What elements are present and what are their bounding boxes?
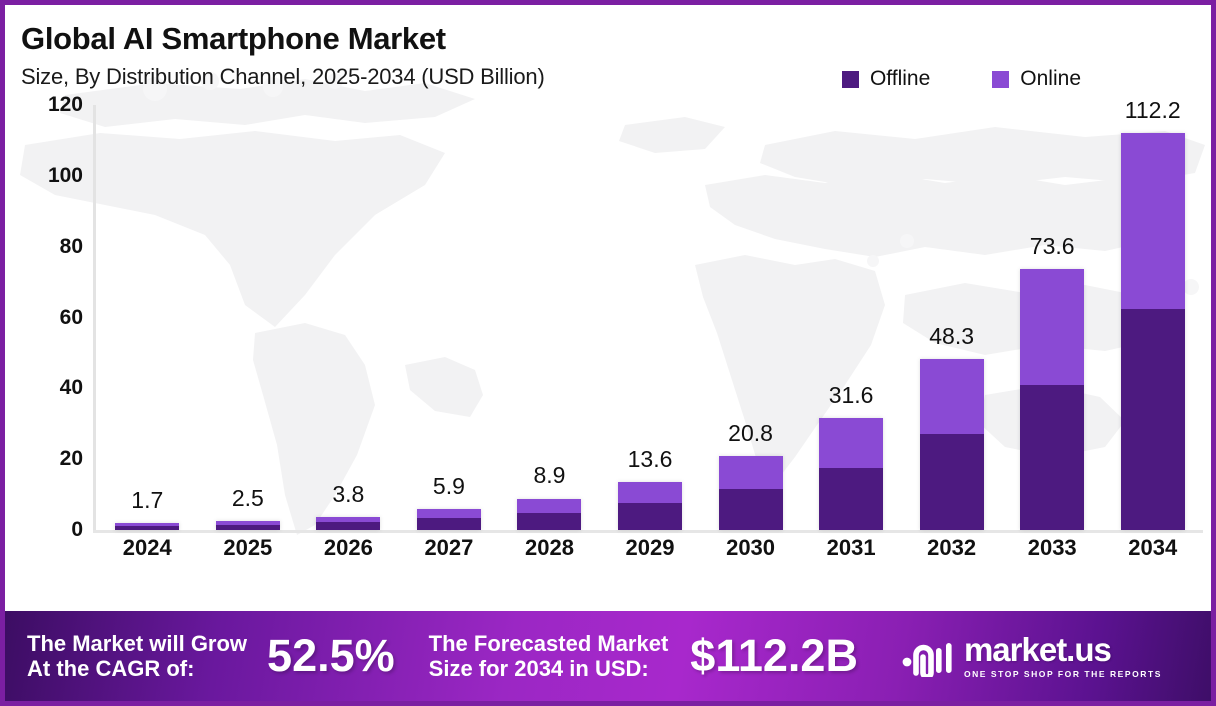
bar-group[interactable]: 5.9: [399, 105, 500, 530]
bar-stack[interactable]: [719, 456, 783, 530]
y-axis-tick: 0: [71, 518, 83, 542]
bar-value-label: 5.9: [433, 473, 465, 500]
x-axis-label: 2026: [298, 535, 399, 575]
bar-stack[interactable]: [316, 517, 380, 530]
bar-segment-offline[interactable]: [417, 518, 481, 530]
bar-segment-online[interactable]: [1020, 269, 1084, 384]
bar-segment-offline[interactable]: [1020, 385, 1084, 530]
legend-item-online[interactable]: Online: [992, 67, 1081, 91]
bar-segment-online[interactable]: [417, 509, 481, 518]
bar-segment-online[interactable]: [1121, 133, 1185, 309]
bar-group[interactable]: 1.7: [97, 105, 198, 530]
bar-stack[interactable]: [517, 499, 581, 531]
bar-segment-online[interactable]: [517, 499, 581, 513]
bar-value-label: 3.8: [332, 481, 364, 508]
bar-stack[interactable]: [920, 359, 984, 530]
cagr-caption-line2: At the CAGR of:: [27, 656, 247, 681]
bar-stack[interactable]: [115, 523, 179, 530]
y-axis-tick: 20: [60, 447, 83, 471]
logo-tagline: ONE STOP SHOP FOR THE REPORTS: [964, 669, 1162, 679]
bar-group[interactable]: 112.2: [1102, 105, 1203, 530]
bar-segment-offline[interactable]: [1121, 309, 1185, 530]
bar-value-label: 1.7: [131, 487, 163, 514]
forecast-value: $112.2B: [690, 630, 858, 682]
bar-value-label: 112.2: [1125, 97, 1181, 124]
cagr-caption: The Market will Grow At the CAGR of:: [27, 631, 247, 681]
bar-value-label: 31.6: [829, 382, 874, 409]
bar-value-label: 8.9: [533, 462, 565, 489]
y-axis-tick: 60: [60, 306, 83, 330]
bar-segment-online[interactable]: [920, 359, 984, 434]
bar-segment-offline[interactable]: [517, 513, 581, 530]
x-axis-label: 2028: [499, 535, 600, 575]
bar-segment-online[interactable]: [719, 456, 783, 489]
bar-segment-offline[interactable]: [719, 489, 783, 530]
x-axis-label: 2031: [801, 535, 902, 575]
chart-legend: Offline Online: [842, 67, 1081, 91]
cagr-block: The Market will Grow At the CAGR of: 52.…: [27, 630, 395, 682]
x-axis-baseline: [93, 530, 1203, 533]
x-axis-label: 2032: [901, 535, 1002, 575]
bar-value-label: 2.5: [232, 485, 264, 512]
x-axis-labels: 2024202520262027202820292030203120322033…: [97, 535, 1203, 575]
legend-label-offline: Offline: [870, 67, 930, 91]
y-axis-tick: 40: [60, 376, 83, 400]
x-axis-label: 2029: [600, 535, 701, 575]
bar-group[interactable]: 73.6: [1002, 105, 1103, 530]
bar-segment-offline[interactable]: [216, 525, 280, 530]
bar-segment-online[interactable]: [819, 418, 883, 468]
legend-swatch-offline-icon: [842, 71, 859, 88]
forecast-caption-line2: Size for 2034 in USD:: [429, 656, 669, 681]
infographic-root: Global AI Smartphone Market Size, By Dis…: [0, 0, 1216, 706]
y-axis: 020406080100120: [5, 105, 93, 530]
bar-stack[interactable]: [216, 521, 280, 530]
page-subtitle: Size, By Distribution Channel, 2025-2034…: [21, 64, 545, 90]
bar-group[interactable]: 3.8: [298, 105, 399, 530]
x-axis-label: 2033: [1002, 535, 1103, 575]
y-axis-tick: 120: [48, 93, 83, 117]
bar-series-container: 1.72.53.85.98.913.620.831.648.373.6112.2: [97, 105, 1203, 530]
page-title: Global AI Smartphone Market: [21, 21, 446, 57]
bar-segment-offline[interactable]: [920, 434, 984, 530]
bar-group[interactable]: 31.6: [801, 105, 902, 530]
chart-plot-area: 020406080100120 1.72.53.85.98.913.620.83…: [5, 105, 1211, 555]
cagr-value: 52.5%: [267, 630, 395, 682]
x-axis-label: 2030: [700, 535, 801, 575]
legend-swatch-online-icon: [992, 71, 1009, 88]
summary-banner: The Market will Grow At the CAGR of: 52.…: [5, 611, 1211, 701]
legend-label-online: Online: [1020, 67, 1081, 91]
y-axis-tick: 80: [60, 235, 83, 259]
bar-value-label: 20.8: [728, 420, 773, 447]
legend-item-offline[interactable]: Offline: [842, 67, 930, 91]
bar-segment-offline[interactable]: [618, 503, 682, 530]
x-axis-label: 2034: [1102, 535, 1203, 575]
y-axis-line: [93, 105, 96, 530]
bar-value-label: 48.3: [929, 323, 974, 350]
market-us-logo-mark-icon: [902, 635, 956, 677]
market-us-logo-text: market.us ONE STOP SHOP FOR THE REPORTS: [964, 633, 1162, 679]
bar-segment-offline[interactable]: [819, 468, 883, 530]
y-axis-tick: 100: [48, 164, 83, 188]
bar-segment-offline[interactable]: [115, 526, 179, 530]
bar-group[interactable]: 20.8: [700, 105, 801, 530]
forecast-caption-line1: The Forecasted Market: [429, 631, 669, 656]
bar-value-label: 73.6: [1030, 233, 1075, 260]
bar-stack[interactable]: [417, 509, 481, 530]
bar-group[interactable]: 13.6: [600, 105, 701, 530]
cagr-caption-line1: The Market will Grow: [27, 631, 247, 656]
x-axis-label: 2024: [97, 535, 198, 575]
bar-segment-online[interactable]: [618, 482, 682, 504]
bar-group[interactable]: 48.3: [901, 105, 1002, 530]
market-us-logo[interactable]: market.us ONE STOP SHOP FOR THE REPORTS: [902, 633, 1162, 679]
x-axis-label: 2025: [198, 535, 299, 575]
x-axis-label: 2027: [399, 535, 500, 575]
bar-stack[interactable]: [819, 418, 883, 530]
logo-wordmark: market.us: [964, 633, 1162, 666]
bar-segment-offline[interactable]: [316, 522, 380, 530]
bar-value-label: 13.6: [628, 446, 673, 473]
bar-stack[interactable]: [1121, 133, 1185, 530]
forecast-block: The Forecasted Market Size for 2034 in U…: [429, 630, 858, 682]
bar-stack[interactable]: [618, 482, 682, 530]
bar-stack[interactable]: [1020, 269, 1084, 530]
bar-group[interactable]: 8.9: [499, 105, 600, 530]
bar-group[interactable]: 2.5: [198, 105, 299, 530]
forecast-caption: The Forecasted Market Size for 2034 in U…: [429, 631, 669, 681]
